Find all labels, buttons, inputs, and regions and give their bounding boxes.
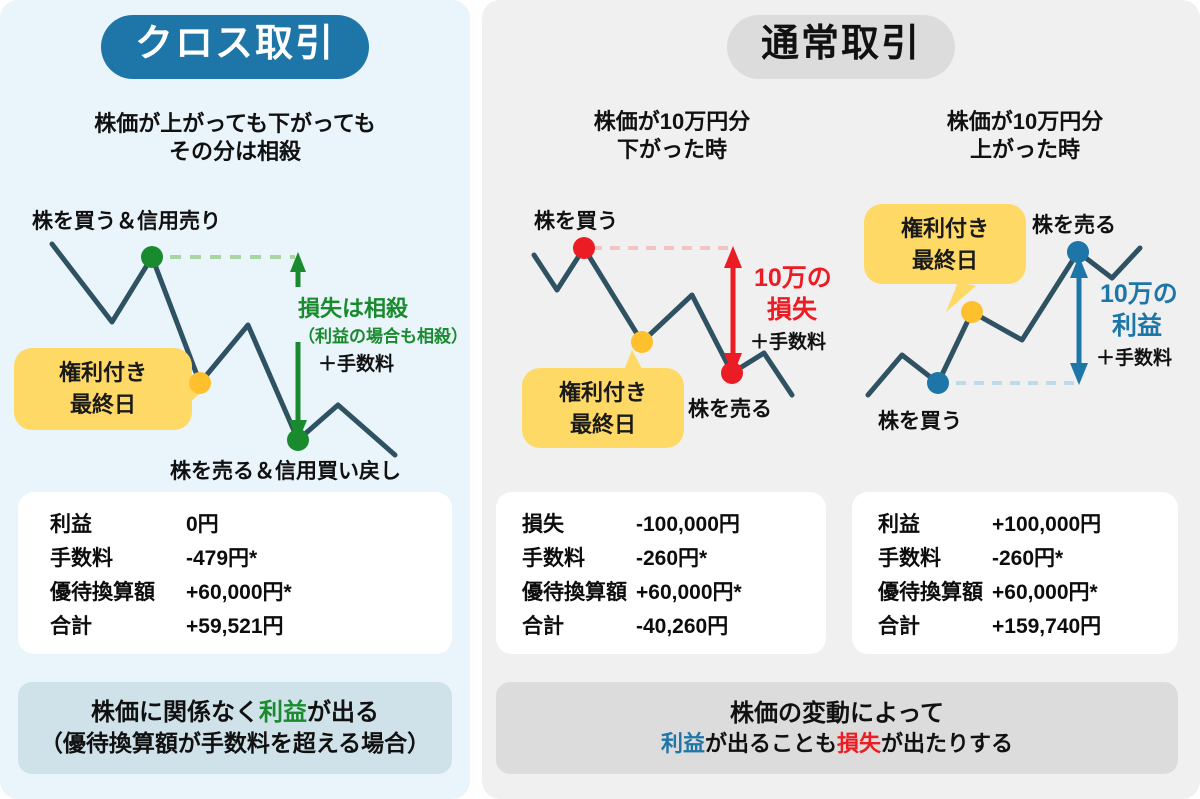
up-annotation-line2: 利益	[1112, 312, 1162, 340]
table-row: 優待換算額+60,000円*	[852, 576, 1178, 610]
cross-annotation-line1: 損失は相殺	[298, 296, 409, 321]
row-value: -260円*	[992, 542, 1063, 576]
up-sell-label: 株を売る	[1032, 213, 1116, 237]
down-summary-rows: 損失-100,000円 手数料-260円* 優待換算額+60,000円* 合計-…	[496, 492, 826, 644]
table-row: 合計+59,521円	[18, 610, 452, 644]
panel-title-cross: クロス取引	[101, 15, 369, 79]
cross-callout-line1: 権利付き	[59, 360, 147, 385]
row-key: 優待換算額	[18, 576, 186, 610]
table-row: 手数料-479円*	[18, 542, 452, 576]
row-key: 合計	[852, 610, 992, 644]
cross-price-chart: 株を買う＆信用売り 損失は相殺 （利益の場合も相殺） ＋手数料 権利付き	[0, 190, 470, 490]
normal-conclusion-line1: 株価の変動によって	[730, 698, 944, 729]
up-sell-marker	[1067, 241, 1089, 263]
cross-conclusion-line1: 株価に関係なく利益が出る	[91, 697, 379, 728]
up-buy-marker	[927, 372, 949, 394]
cross-record-date-marker	[189, 372, 211, 394]
down-annotation-line1: 10万の	[754, 264, 832, 292]
cross-buy-label: 株を買う＆信用売り	[32, 209, 221, 233]
row-value: -40,260円	[636, 610, 728, 644]
normal-up-summary-card: 利益+100,000円 手数料-260円* 優待換算額+60,000円* 合計+…	[852, 492, 1178, 654]
normal-up-subheading: 株価が10万円分 上がった時	[850, 108, 1200, 164]
up-record-date-callout: 権利付き 最終日	[864, 204, 1026, 312]
normal-trade-panel: 通常取引 株価が10万円分 下がった時 株価が10万円分 上がった時 株を買う …	[482, 0, 1200, 799]
cross-conclusion-highlight: 利益	[259, 699, 307, 726]
up-annotation-line3: ＋手数料	[1096, 346, 1172, 369]
down-annotation-line3: ＋手数料	[750, 330, 826, 353]
row-key: 手数料	[852, 542, 992, 576]
down-loss-arrow	[724, 246, 742, 375]
normal-down-summary-card: 損失-100,000円 手数料-260円* 優待換算額+60,000円* 合計-…	[496, 492, 826, 654]
cross-buy-marker	[141, 246, 163, 268]
row-value: +60,000円*	[186, 576, 292, 610]
row-key: 合計	[18, 610, 186, 644]
down-sell-marker	[721, 362, 743, 384]
down-sell-label: 株を売る	[688, 397, 772, 421]
cross-subheading: 株価が上がっても下がっても その分は相殺	[0, 110, 470, 166]
normal-conclusion-line2: 利益が出ることも損失が出たりする	[661, 729, 1013, 759]
row-key: 利益	[852, 508, 992, 542]
table-row: 損失-100,000円	[496, 508, 826, 542]
table-row: 手数料-260円*	[496, 542, 826, 576]
normal-conclusion-text-d: が出たりする	[881, 731, 1013, 756]
row-key: 優待換算額	[852, 576, 992, 610]
up-buy-label: 株を買う	[878, 409, 962, 433]
cross-summary-card: 利益0円 手数料-479円* 優待換算額+60,000円* 合計+59,521円	[18, 492, 452, 654]
cross-trade-panel: クロス取引 株価が上がっても下がっても その分は相殺 株を買う＆信用売り 損失は…	[0, 0, 470, 799]
row-value: +59,521円	[186, 610, 284, 644]
cross-annotation-line2: （利益の場合も相殺）	[298, 326, 468, 346]
table-row: 利益+100,000円	[852, 508, 1178, 542]
up-profit-arrow	[1070, 256, 1088, 385]
down-callout-line2: 最終日	[570, 412, 636, 437]
row-key: 利益	[18, 508, 186, 542]
cross-conclusion-text-a: 株価に関係なく	[91, 699, 259, 726]
table-row: 手数料-260円*	[852, 542, 1178, 576]
cross-summary-rows: 利益0円 手数料-479円* 優待換算額+60,000円* 合計+59,521円	[18, 492, 452, 644]
down-record-date-callout: 権利付き 最終日	[522, 350, 684, 448]
row-key: 合計	[496, 610, 636, 644]
cross-sell-marker	[287, 429, 309, 451]
row-value: +60,000円*	[992, 576, 1098, 610]
normal-conclusion-loss: 損失	[837, 731, 881, 756]
panel-title-normal: 通常取引	[727, 15, 955, 79]
cross-conclusion-line2: （優待換算額が手数料を超える場合）	[40, 728, 430, 759]
row-value: +60,000円*	[636, 576, 742, 610]
table-row: 合計-40,260円	[496, 610, 826, 644]
normal-down-subheading: 株価が10万円分 下がった時	[492, 108, 852, 164]
cross-sell-label: 株を売る＆信用買い戻し	[170, 459, 401, 483]
row-value: -100,000円	[636, 508, 740, 542]
normal-down-chart: 株を買う 10万の 損失 ＋手数料 権利付き 最終日 株を売る	[492, 190, 852, 490]
table-row: 優待換算額+60,000円*	[496, 576, 826, 610]
down-buy-marker	[573, 237, 595, 259]
down-callout-line1: 権利付き	[559, 380, 647, 405]
cross-conclusion-text-c: が出る	[307, 699, 379, 726]
table-row: 優待換算額+60,000円*	[18, 576, 452, 610]
row-value: +100,000円	[992, 508, 1101, 542]
row-value: +159,740円	[992, 610, 1101, 644]
up-callout-line2: 最終日	[912, 248, 978, 273]
cross-offset-arrow	[289, 252, 307, 442]
table-row: 利益0円	[18, 508, 452, 542]
cross-record-date-callout: 権利付き 最終日	[14, 348, 212, 430]
normal-up-chart: 株を売る 10万の 利益 ＋手数料 権利付き 最終日 株を買う	[850, 190, 1200, 490]
cross-conclusion-banner: 株価に関係なく利益が出る （優待換算額が手数料を超える場合）	[18, 682, 452, 774]
normal-conclusion-text-b: が出ることも	[705, 731, 837, 756]
row-key: 手数料	[496, 542, 636, 576]
normal-conclusion-banner: 株価の変動によって 利益が出ることも損失が出たりする	[496, 682, 1178, 774]
row-key: 手数料	[18, 542, 186, 576]
up-record-date-marker	[961, 301, 983, 323]
row-value: -479円*	[186, 542, 257, 576]
cross-callout-line2: 最終日	[70, 392, 136, 417]
row-key: 損失	[496, 508, 636, 542]
row-value: 0円	[186, 508, 219, 542]
down-annotation-line2: 損失	[767, 296, 818, 324]
down-buy-label: 株を買う	[534, 209, 618, 233]
normal-conclusion-profit: 利益	[661, 731, 705, 756]
cross-annotation-line3: ＋手数料	[318, 352, 394, 375]
up-callout-line1: 権利付き	[901, 216, 989, 241]
up-annotation-line1: 10万の	[1100, 280, 1178, 308]
down-record-date-marker	[631, 331, 653, 353]
up-summary-rows: 利益+100,000円 手数料-260円* 優待換算額+60,000円* 合計+…	[852, 492, 1178, 644]
row-key: 優待換算額	[496, 576, 636, 610]
table-row: 合計+159,740円	[852, 610, 1178, 644]
row-value: -260円*	[636, 542, 707, 576]
